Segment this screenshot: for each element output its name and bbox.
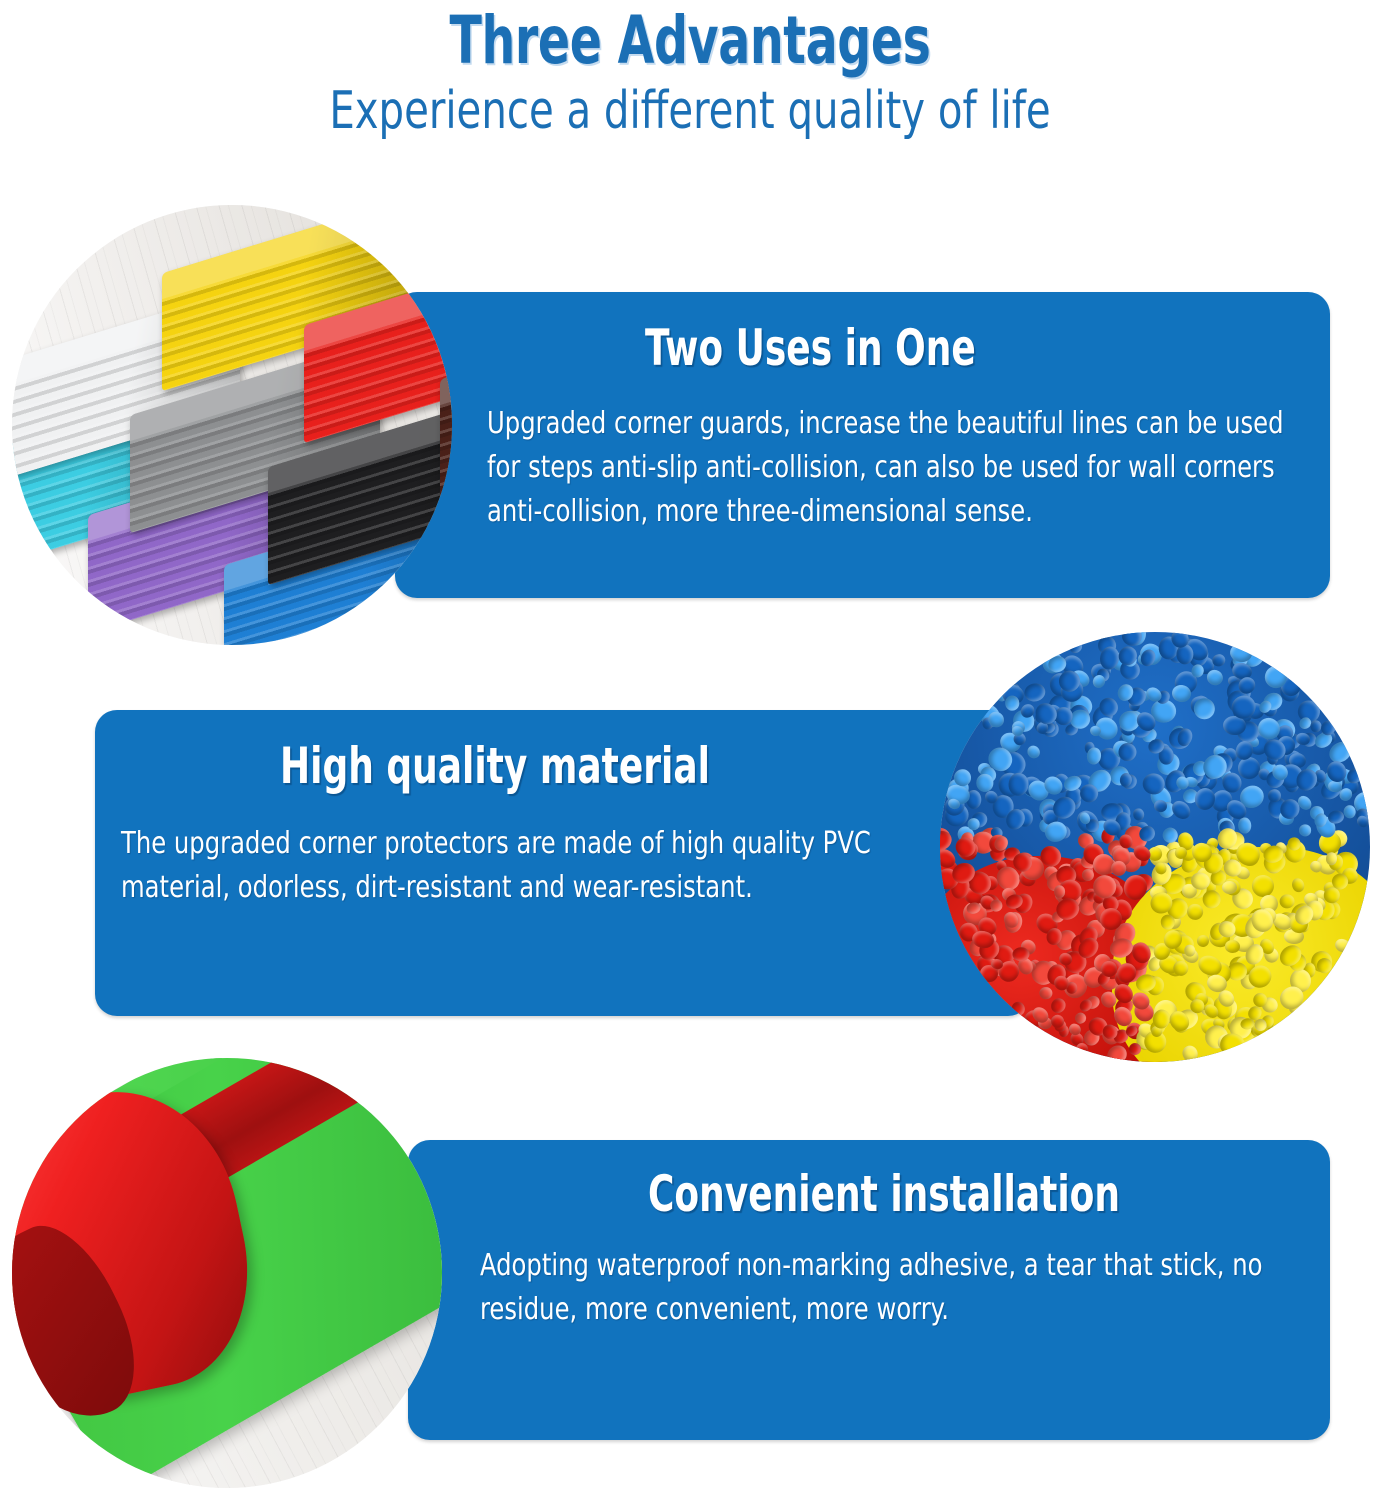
adhesive-backing-photo bbox=[12, 1058, 442, 1488]
pellet-zone-blue-granule bbox=[1239, 817, 1252, 833]
pellet-zone-blue-granule bbox=[1067, 638, 1085, 656]
pellet-zone-blue-granule bbox=[976, 773, 993, 791]
pellet-zone-yellow-granule bbox=[1333, 936, 1352, 954]
advantage-3-heading: Convenient installation bbox=[648, 1166, 1120, 1222]
page-title: Three Advantages bbox=[138, 4, 1242, 78]
pellet-zone-yellow-granule bbox=[1180, 1043, 1200, 1062]
pellet-zone-blue-granule bbox=[1133, 808, 1145, 821]
pellet-zone-blue-granule bbox=[1004, 695, 1019, 710]
colored-corner-guards-photo bbox=[12, 205, 452, 645]
page-header: Three Advantages Experience a different … bbox=[0, 0, 1380, 142]
advantage-panel-2: High quality material The upgraded corne… bbox=[95, 710, 1030, 1016]
pellet-zone-yellow-granule bbox=[1184, 944, 1196, 957]
pellet-zone-yellow-granule bbox=[1225, 940, 1241, 954]
pellet-zone-blue-granule bbox=[1298, 824, 1311, 836]
advantage-2-body: The upgraded corner protectors are made … bbox=[121, 822, 958, 910]
pellet-zone-blue-granule bbox=[1343, 805, 1356, 819]
advantage-3-body: Adopting waterproof non-marking adhesive… bbox=[480, 1244, 1263, 1332]
pellet-zone-red-granule bbox=[1049, 996, 1069, 1016]
page-subtitle: Experience a different quality of life bbox=[97, 80, 1284, 142]
pellet-zone-yellow-granule bbox=[1290, 877, 1306, 894]
advantage-panel-3: Convenient installation Adopting waterpr… bbox=[408, 1140, 1330, 1440]
pellet-zone-red-granule bbox=[1010, 1000, 1026, 1017]
infographic-page: Three Advantages Experience a different … bbox=[0, 0, 1380, 1500]
pellet-zone-blue-granule bbox=[1025, 743, 1043, 761]
advantage-1-heading: Two Uses in One bbox=[645, 320, 976, 376]
pvc-pellets-photo bbox=[940, 632, 1370, 1062]
pellet-zone-yellow-granule bbox=[1280, 894, 1295, 909]
pellet-zone-red-granule bbox=[1104, 1042, 1131, 1062]
advantage-1-body: Upgraded corner guards, increase the bea… bbox=[487, 402, 1324, 534]
advantage-2-heading: High quality material bbox=[280, 738, 710, 794]
pellet-zone-red-granule bbox=[1054, 885, 1066, 898]
pellet-granules bbox=[940, 632, 1370, 1062]
pellet-zone-blue-granule bbox=[1007, 772, 1029, 796]
pellet-zone-red-granule bbox=[1040, 987, 1053, 1000]
pellet-zone-blue-granule bbox=[1194, 698, 1215, 720]
advantage-panel-1: Two Uses in One Upgraded corner guards, … bbox=[395, 292, 1330, 598]
pellet-zone-blue-granule bbox=[1022, 681, 1047, 703]
